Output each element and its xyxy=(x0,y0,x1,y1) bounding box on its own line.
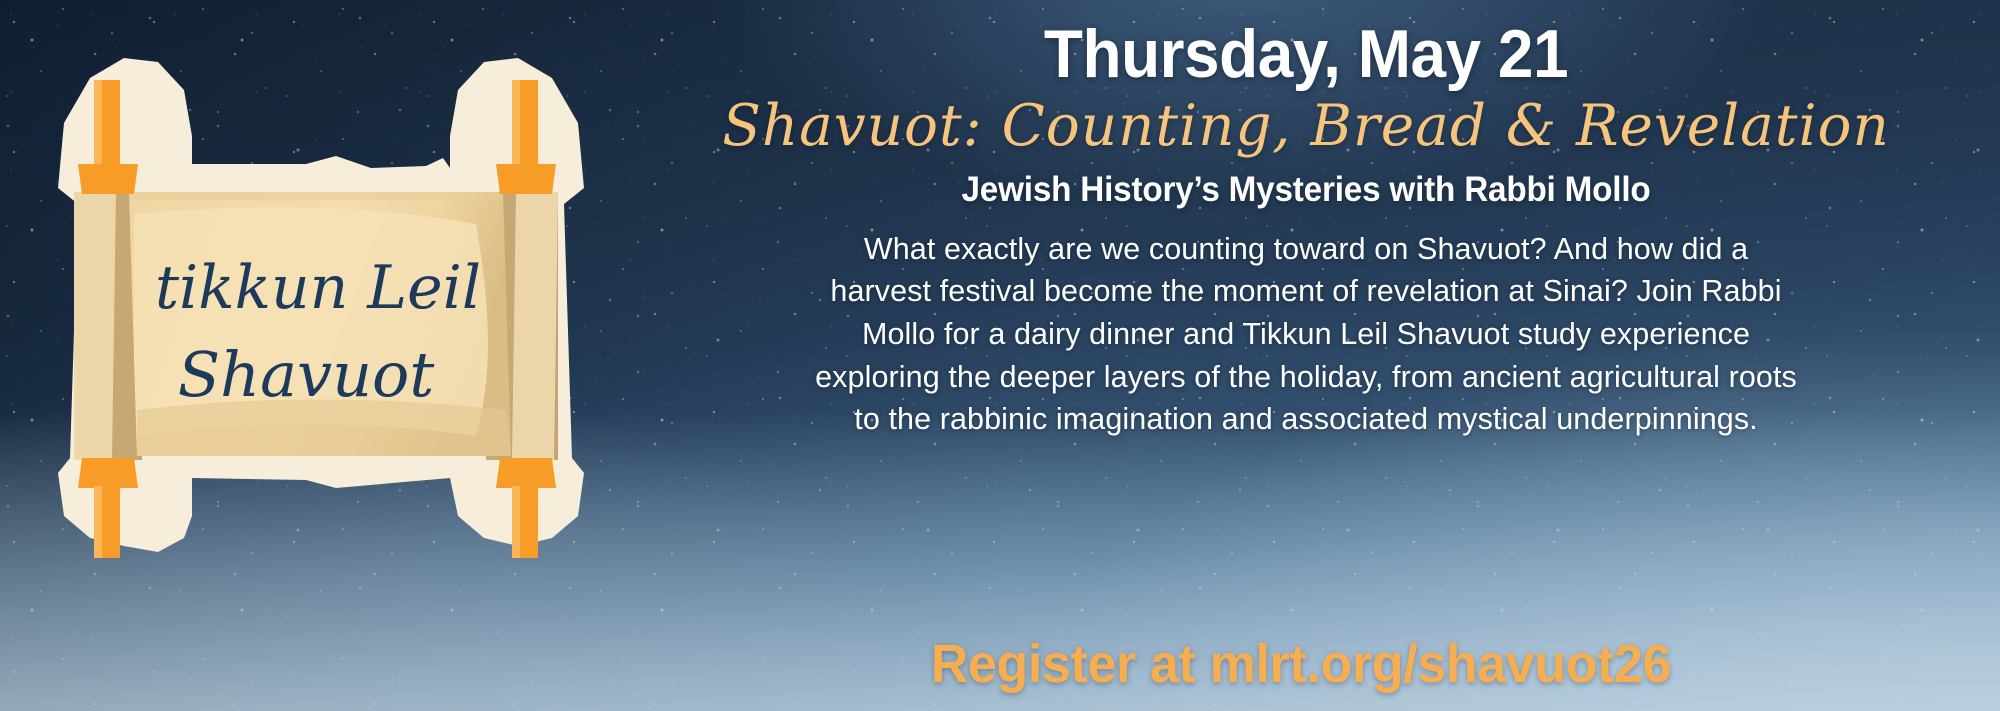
scroll-parchment xyxy=(129,192,511,456)
description-line: harvest festival become the moment of re… xyxy=(714,270,1899,313)
register-call-to-action[interactable]: Register at mlrt.org/shavuot26 xyxy=(647,636,1955,693)
description-line: Mollo for a dairy dinner and Tikkun Leil… xyxy=(714,313,1899,356)
event-script-title: Shavuot: Counting, Bread & Revelation xyxy=(637,95,1975,159)
scroll-title-line2: Shavuot xyxy=(178,338,435,411)
event-date: Thursday, May 21 xyxy=(671,20,1942,89)
event-subheading: Jewish History’s Mysteries with Rabbi Mo… xyxy=(664,171,1948,210)
torah-scroll-illustration: tikkun Leil Shavuot xyxy=(6,18,626,558)
event-description: What exactly are we counting toward on S… xyxy=(714,228,1899,441)
description-line: to the rabbinic imagination and associat… xyxy=(714,398,1899,441)
scroll-title-line1: tikkun Leil xyxy=(155,253,481,323)
shavuot-event-banner: tikkun Leil Shavuot xyxy=(0,0,2000,711)
description-line: exploring the deeper layers of the holid… xyxy=(714,356,1899,399)
description-line: What exactly are we counting toward on S… xyxy=(714,228,1899,271)
banner-text-column: Thursday, May 21 Shavuot: Counting, Brea… xyxy=(620,0,2000,711)
